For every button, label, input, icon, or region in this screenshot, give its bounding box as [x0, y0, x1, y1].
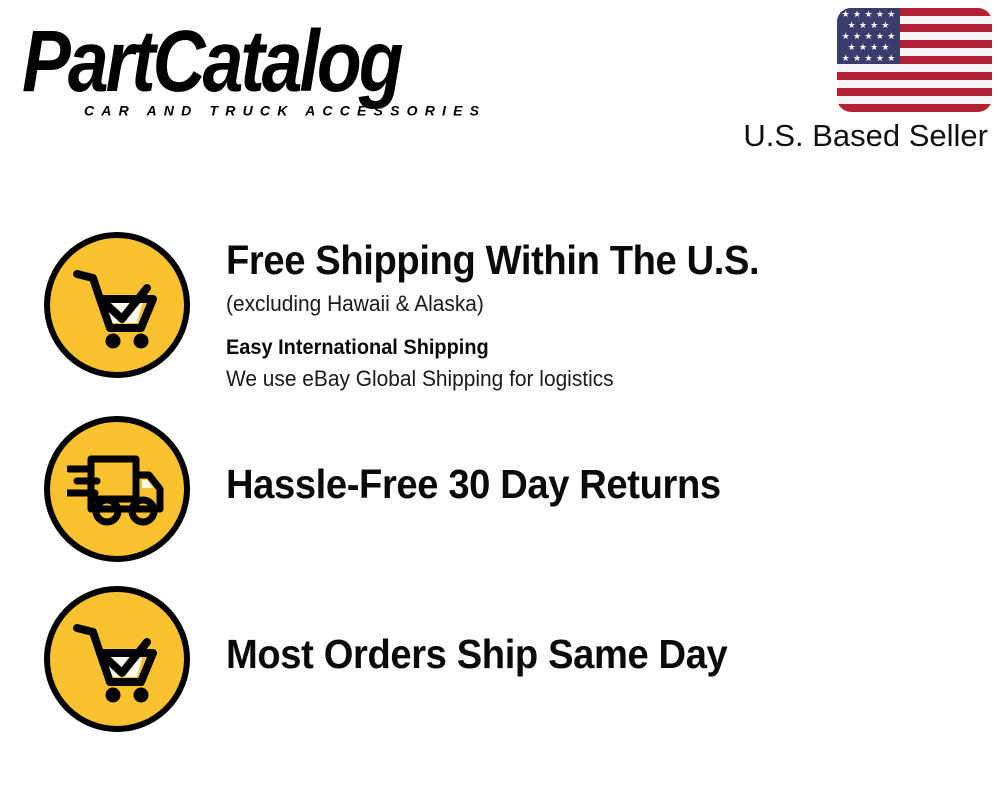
star-icon: ★ — [876, 10, 884, 19]
star-icon: ★ — [864, 32, 872, 41]
star-icon: ★ — [876, 54, 884, 63]
delivery-truck-icon — [44, 416, 190, 562]
star-icon: ★ — [853, 10, 861, 19]
flag-star-row: ★ ★ ★ ★ — [837, 43, 900, 52]
feature-text: Hassle-Free 30 Day Returns — [190, 414, 1000, 508]
star-icon: ★ — [881, 21, 889, 30]
feature-subtext: We use eBay Global Shipping for logistic… — [226, 364, 961, 394]
feature-note: (excluding Hawaii & Alaska) — [226, 289, 961, 319]
star-icon: ★ — [887, 54, 895, 63]
feature-text: Most Orders Ship Same Day — [190, 584, 1000, 678]
star-icon: ★ — [864, 54, 872, 63]
star-icon: ★ — [853, 32, 861, 41]
seller-badge: ★ ★ ★ ★ ★ ★ ★ ★ ★ ★ ★ ★ ★ ★ — [717, 8, 992, 154]
brand-logo[interactable]: PartCatalog CAR AND TRUCK ACCESSORIES — [22, 22, 492, 117]
star-icon: ★ — [848, 21, 856, 30]
star-icon: ★ — [842, 54, 850, 63]
star-icon: ★ — [870, 21, 878, 30]
page-header: PartCatalog CAR AND TRUCK ACCESSORIES ★ … — [0, 0, 1000, 175]
us-flag-icon: ★ ★ ★ ★ ★ ★ ★ ★ ★ ★ ★ ★ ★ ★ — [837, 8, 992, 112]
flag-star-row: ★ ★ ★ ★ ★ — [837, 10, 900, 19]
star-icon: ★ — [876, 32, 884, 41]
star-icon: ★ — [881, 43, 889, 52]
flag-star-row: ★ ★ ★ ★ ★ — [837, 32, 900, 41]
star-icon: ★ — [859, 43, 867, 52]
feature-subheading: Easy International Shipping — [226, 333, 961, 363]
feature-title: Hassle-Free 30 Day Returns — [226, 460, 946, 508]
flag-star-row: ★ ★ ★ ★ ★ — [837, 54, 900, 63]
brand-wordmark: PartCatalog — [22, 18, 400, 105]
shopping-cart-check-icon — [44, 586, 190, 732]
feature-row: Hassle-Free 30 Day Returns — [0, 414, 1000, 566]
star-icon: ★ — [842, 10, 850, 19]
star-icon: ★ — [848, 43, 856, 52]
flag-stars: ★ ★ ★ ★ ★ ★ ★ ★ ★ ★ ★ ★ ★ ★ — [837, 8, 900, 64]
star-icon: ★ — [859, 21, 867, 30]
seller-label: U.S. Based Seller — [717, 118, 992, 154]
feature-text: Free Shipping Within The U.S. (excluding… — [190, 232, 1000, 394]
star-icon: ★ — [870, 43, 878, 52]
star-icon: ★ — [864, 10, 872, 19]
shopping-cart-check-icon — [44, 232, 190, 378]
star-icon: ★ — [887, 10, 895, 19]
feature-title: Most Orders Ship Same Day — [226, 630, 946, 678]
feature-title: Free Shipping Within The U.S. — [226, 236, 946, 284]
feature-row: Most Orders Ship Same Day — [0, 584, 1000, 736]
brand-tagline: CAR AND TRUCK ACCESSORIES — [84, 102, 486, 118]
feature-row: Free Shipping Within The U.S. (excluding… — [0, 232, 1000, 404]
star-icon: ★ — [842, 32, 850, 41]
star-icon: ★ — [853, 54, 861, 63]
flag-star-row: ★ ★ ★ ★ — [837, 21, 900, 30]
star-icon: ★ — [887, 32, 895, 41]
